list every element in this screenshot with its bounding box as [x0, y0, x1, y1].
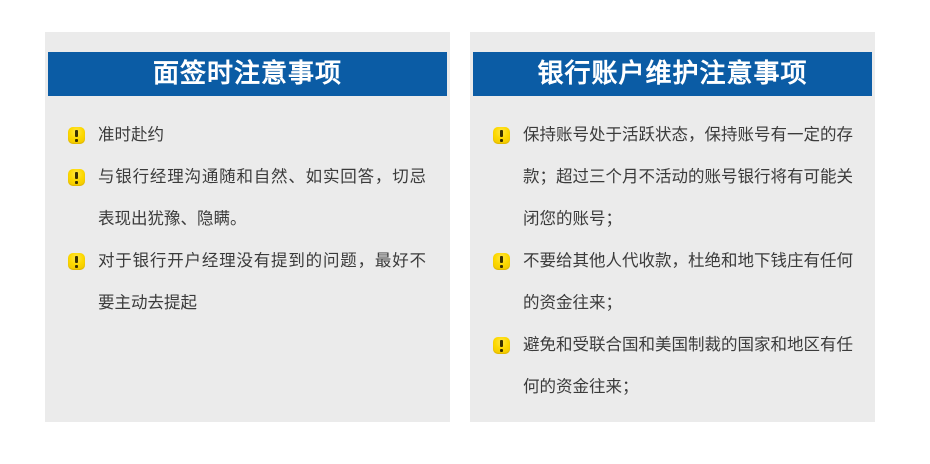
list-item-text: 保持账号处于活跃状态，保持账号有一定的存款；超过三个月不活动的账号银行将有可能关…	[523, 125, 853, 228]
list-item-text: 不要给其他人代收款，杜绝和地下钱庄有任何的资金往来；	[523, 251, 853, 312]
warning-exclamation-icon	[68, 127, 85, 144]
infographic-canvas: 面签时注意事项 准时赴约 与银行经理沟通随和自然、如实回答，切忌表现出犹豫、隐瞒…	[0, 0, 930, 464]
bullet-list-account-maintenance-notes: 保持账号处于活跃状态，保持账号有一定的存款；超过三个月不活动的账号银行将有可能关…	[487, 114, 855, 408]
panel-title-account-maintenance-notes: 银行账户维护注意事项	[537, 61, 807, 87]
panel-title-interview-notes: 面签时注意事项	[153, 61, 342, 87]
panel-body-interview-notes: 准时赴约 与银行经理沟通随和自然、如实回答，切忌表现出犹豫、隐瞒。 对于银行开户…	[45, 104, 450, 422]
panel-header-account-maintenance-notes: 银行账户维护注意事项	[473, 52, 872, 96]
panel-account-maintenance-notes: 银行账户维护注意事项 保持账号处于活跃状态，保持账号有一定的存款；超过三个月不活…	[470, 32, 875, 422]
list-item-text: 避免和受联合国和美国制裁的国家和地区有任何的资金往来；	[523, 335, 853, 396]
list-item: 对于银行开户经理没有提到的问题，最好不要主动去提起	[62, 240, 430, 324]
warning-exclamation-icon	[68, 253, 85, 270]
panel-header-interview-notes: 面签时注意事项	[48, 52, 447, 96]
list-item-text: 对于银行开户经理没有提到的问题，最好不要主动去提起	[98, 251, 426, 312]
warning-exclamation-icon	[493, 127, 510, 144]
list-item: 与银行经理沟通随和自然、如实回答，切忌表现出犹豫、隐瞒。	[62, 156, 430, 240]
list-item: 避免和受联合国和美国制裁的国家和地区有任何的资金往来；	[487, 324, 855, 408]
list-item: 不要给其他人代收款，杜绝和地下钱庄有任何的资金往来；	[487, 240, 855, 324]
list-item-text: 与银行经理沟通随和自然、如实回答，切忌表现出犹豫、隐瞒。	[98, 167, 426, 228]
list-item: 准时赴约	[62, 114, 430, 156]
panel-interview-notes: 面签时注意事项 准时赴约 与银行经理沟通随和自然、如实回答，切忌表现出犹豫、隐瞒…	[45, 32, 450, 422]
panel-body-account-maintenance-notes: 保持账号处于活跃状态，保持账号有一定的存款；超过三个月不活动的账号银行将有可能关…	[470, 104, 875, 422]
list-item-text: 准时赴约	[98, 125, 164, 144]
warning-exclamation-icon	[68, 169, 85, 186]
warning-exclamation-icon	[493, 253, 510, 270]
warning-exclamation-icon	[493, 337, 510, 354]
bullet-list-interview-notes: 准时赴约 与银行经理沟通随和自然、如实回答，切忌表现出犹豫、隐瞒。 对于银行开户…	[62, 114, 430, 324]
list-item: 保持账号处于活跃状态，保持账号有一定的存款；超过三个月不活动的账号银行将有可能关…	[487, 114, 855, 240]
